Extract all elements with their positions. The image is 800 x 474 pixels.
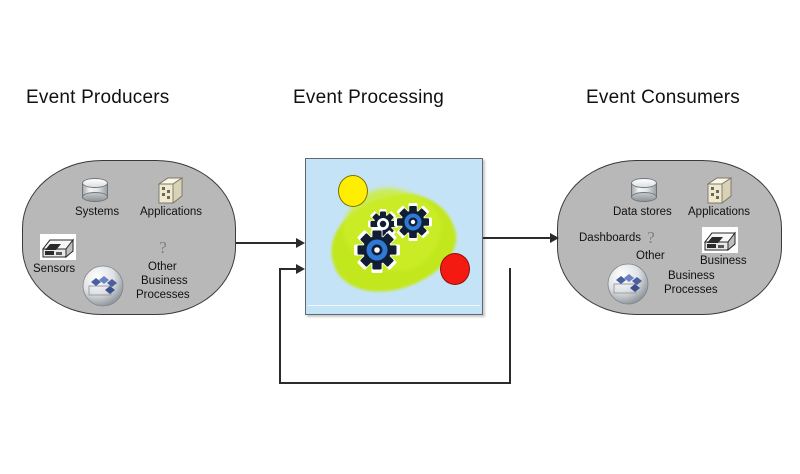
- producer-label-applications: Applications: [140, 206, 202, 219]
- event-processing-box: [305, 158, 483, 315]
- consumer-label-dashboards: Dashboards: [579, 232, 641, 245]
- question-mark-icon: ?: [154, 238, 172, 258]
- data-store-cylinder-icon: [631, 178, 657, 202]
- processing-to-consumers-line: [483, 237, 550, 239]
- producer-label-other: Other: [148, 261, 177, 274]
- feedback-loop-right-segment: [509, 268, 511, 383]
- consumer-label-business: Business: [700, 255, 747, 268]
- consumer-label-business-processes-line2: Processes: [664, 284, 718, 297]
- business-process-sphere-icon-consumer: [606, 262, 648, 304]
- feedback-loop-arrow: [296, 264, 305, 274]
- consumer-label-business-processes-line1: Business: [668, 270, 715, 283]
- producer-label-systems: Systems: [75, 206, 119, 219]
- processing-box-inner-rule: [308, 305, 480, 306]
- database-cylinder-icon: [82, 178, 108, 202]
- business-process-sphere-icon: [81, 264, 123, 306]
- producers-to-processing-line: [236, 242, 296, 244]
- application-box-icon: [158, 177, 183, 204]
- producer-label-processes: Processes: [136, 289, 190, 302]
- gear-large-icon: [354, 227, 400, 278]
- device-hardware-icon-consumer: [702, 227, 736, 251]
- page-title-event-processing: Event Processing: [293, 87, 444, 109]
- device-hardware-icon: [40, 234, 74, 258]
- page-title-event-consumers: Event Consumers: [586, 87, 740, 109]
- red-event-marker: [440, 253, 470, 285]
- producers-to-processing-arrow: [296, 238, 305, 248]
- page-title-event-producers: Event Producers: [26, 87, 169, 109]
- feedback-loop-bottom-segment: [279, 382, 511, 384]
- feedback-loop-left-segment: [279, 268, 281, 383]
- producer-label-sensors: Sensors: [33, 263, 75, 276]
- application-box-icon-consumer: [707, 177, 732, 204]
- producer-label-business: Business: [141, 275, 188, 288]
- question-mark-icon-consumer: ?: [642, 228, 660, 248]
- consumer-label-data-stores: Data stores: [613, 206, 672, 219]
- consumer-label-applications: Applications: [688, 206, 750, 219]
- yellow-event-marker: [338, 175, 368, 207]
- processing-to-consumers-arrow: [550, 233, 559, 243]
- diagram-canvas: Event Producers Event Processing Event C…: [0, 0, 800, 474]
